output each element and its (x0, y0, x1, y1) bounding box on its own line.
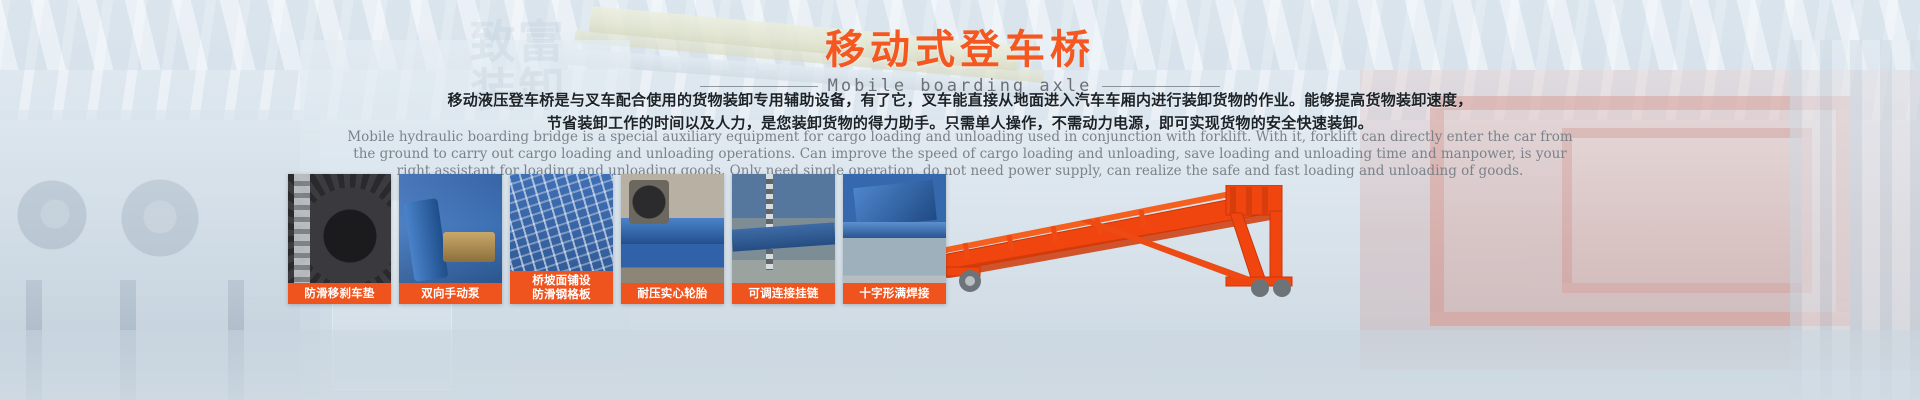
list-item[interactable]: 耐压实心轮胎 (621, 174, 724, 304)
feature-thumbnail-list: 防滑移刹车垫 双向手动泵 桥坡面铺设 防滑钢格板 耐压实心轮胎 可调连接挂链 十… (288, 174, 946, 304)
subtitle-rule-left (700, 86, 818, 87)
thumbnail-caption-line-1: 桥坡面铺设 (511, 273, 612, 287)
description-english: Mobile hydraulic boarding bridge is a sp… (335, 129, 1585, 180)
thumbnail-caption: 耐压实心轮胎 (621, 283, 724, 304)
list-item[interactable]: 可调连接挂链 (732, 174, 835, 304)
product-banner: 致富 装卸 (0, 0, 1920, 400)
banner-title-block: 移动式登车桥 Mobile boarding axle (0, 26, 1920, 96)
page-title: 移动式登车桥 (0, 26, 1920, 74)
thumbnail-caption-line-2: 防滑钢格板 (511, 287, 612, 301)
thumbnail-caption: 双向手动泵 (399, 283, 502, 304)
list-item[interactable]: 双向手动泵 (399, 174, 502, 304)
description-chinese-line-1: 移动液压登车桥是与叉车配合使用的货物装卸专用辅助设备，有了它，叉车能直接从地面进… (0, 89, 1920, 112)
product-image (930, 185, 1320, 300)
thumbnail-caption: 桥坡面铺设 防滑钢格板 (510, 271, 613, 304)
subtitle-rule-right (1102, 86, 1220, 87)
list-item[interactable]: 桥坡面铺设 防滑钢格板 (510, 174, 613, 304)
thumbnail-caption: 可调连接挂链 (732, 283, 835, 304)
list-item[interactable]: 防滑移刹车垫 (288, 174, 391, 304)
list-item[interactable]: 十字形满焊接 (843, 174, 946, 304)
thumbnail-caption: 防滑移刹车垫 (288, 283, 391, 304)
thumbnail-caption: 十字形满焊接 (843, 283, 946, 304)
